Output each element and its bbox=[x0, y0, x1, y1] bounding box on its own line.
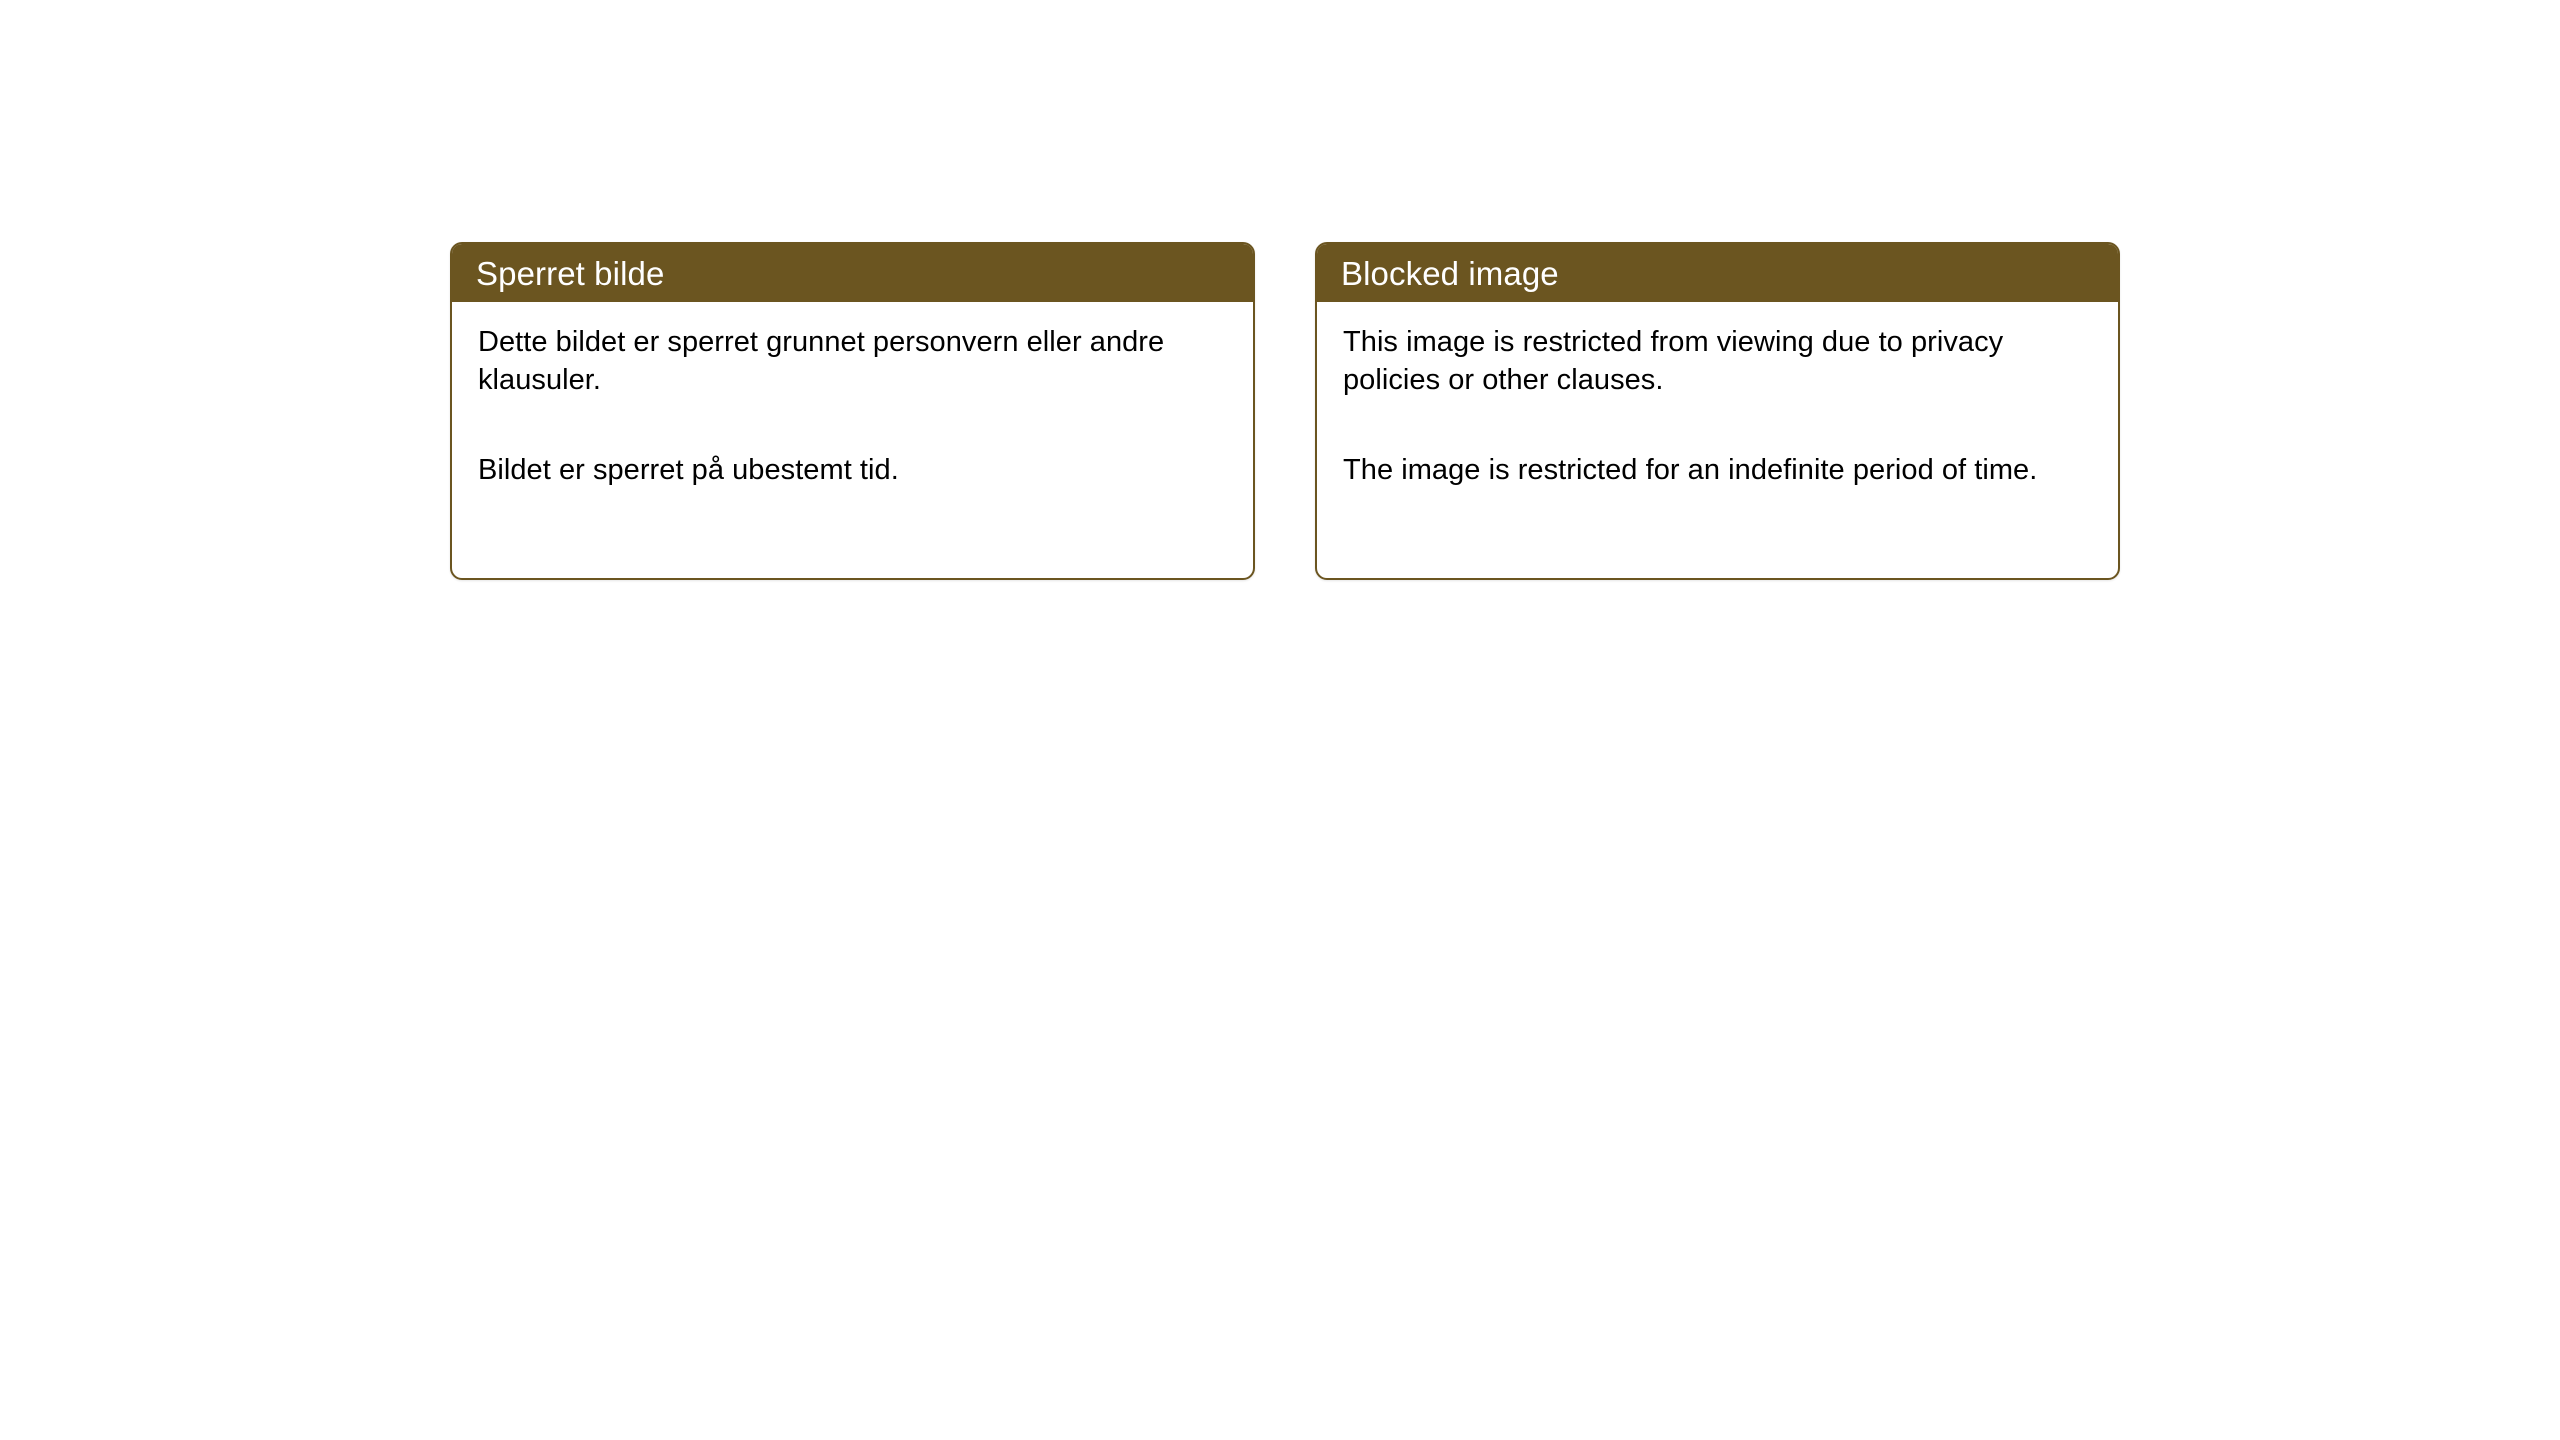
card-paragraph-primary-no: Dette bildet er sperret grunnet personve… bbox=[478, 324, 1229, 400]
page-canvas: Sperret bilde Dette bildet er sperret gr… bbox=[0, 0, 2560, 1440]
card-title-en: Blocked image bbox=[1341, 257, 1559, 290]
blocked-image-notice-card-no: Sperret bilde Dette bildet er sperret gr… bbox=[450, 242, 1255, 580]
card-header-en: Blocked image bbox=[1317, 244, 2118, 302]
card-paragraph-secondary-no: Bildet er sperret på ubestemt tid. bbox=[478, 452, 1229, 490]
card-header-no: Sperret bilde bbox=[452, 244, 1253, 302]
card-title-no: Sperret bilde bbox=[476, 257, 664, 290]
card-paragraph-primary-en: This image is restricted from viewing du… bbox=[1343, 324, 2094, 400]
card-body-en: This image is restricted from viewing du… bbox=[1317, 302, 2118, 490]
card-paragraph-secondary-en: The image is restricted for an indefinit… bbox=[1343, 452, 2094, 490]
card-body-no: Dette bildet er sperret grunnet personve… bbox=[452, 302, 1253, 490]
blocked-image-notice-card-en: Blocked image This image is restricted f… bbox=[1315, 242, 2120, 580]
